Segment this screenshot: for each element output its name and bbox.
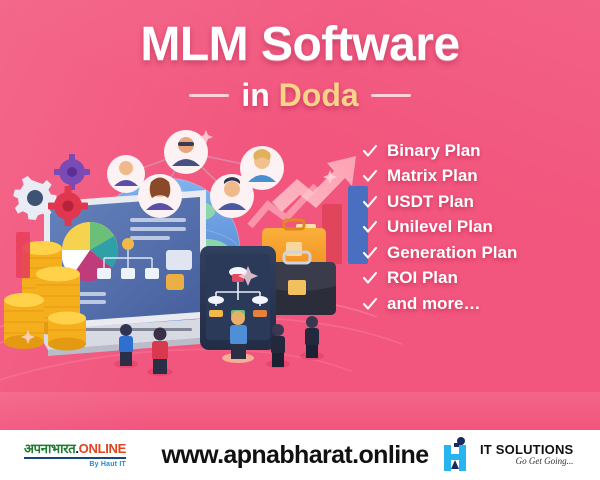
feature-label: Binary Plan xyxy=(387,141,481,161)
dash-right-decoration xyxy=(371,94,411,97)
brand-online-text: ONLINE xyxy=(79,441,126,456)
growth-arrow-icon xyxy=(272,156,356,212)
check-icon xyxy=(362,143,378,159)
feature-label: and more… xyxy=(387,294,481,314)
feature-label: Matrix Plan xyxy=(387,166,478,186)
partner-name: IT SOLUTIONS xyxy=(480,443,573,457)
brand-tagline: By Haut IT xyxy=(24,461,126,468)
check-icon xyxy=(362,245,378,261)
feature-label: USDT Plan xyxy=(387,192,474,212)
partner-text-block: IT SOLUTIONS Go Get Going... xyxy=(480,443,573,466)
feature-item: USDT Plan xyxy=(362,189,517,215)
brand-logo-apnabharat[interactable]: अपनाभारत.ONLINE By Haut IT xyxy=(0,442,150,468)
promo-poster: MLM Software in Doda xyxy=(0,0,600,480)
it-solutions-mark-icon xyxy=(440,436,474,474)
network-avatar xyxy=(107,155,145,193)
check-icon xyxy=(362,270,378,286)
dash-left-decoration xyxy=(189,94,229,97)
headline-block: MLM Software in Doda xyxy=(0,18,600,114)
footer-bar: अपनाभारत.ONLINE By Haut IT www.apnabhara… xyxy=(0,430,600,480)
coin-stack xyxy=(48,312,86,351)
feature-item: ROI Plan xyxy=(362,266,517,292)
check-icon xyxy=(362,219,378,235)
check-icon xyxy=(362,194,378,210)
feature-label: Unilevel Plan xyxy=(387,217,493,237)
headline-title: MLM Software xyxy=(0,18,600,72)
feature-item: and more… xyxy=(362,291,517,317)
headline-subtitle: in Doda xyxy=(241,76,358,114)
network-avatar xyxy=(138,174,182,218)
gear-white-icon xyxy=(13,176,56,220)
gear-purple-icon xyxy=(54,154,90,190)
check-icon xyxy=(362,168,378,184)
headline-subtitle-row: in Doda xyxy=(0,76,600,114)
feature-item: Binary Plan xyxy=(362,138,517,164)
feature-label: ROI Plan xyxy=(387,268,458,288)
feature-item: Generation Plan xyxy=(362,240,517,266)
website-url[interactable]: www.apnabharat.online xyxy=(161,441,428,469)
brand-underline xyxy=(24,457,126,459)
coin-stack xyxy=(4,293,44,349)
feature-list: Binary Plan Matrix Plan USDT Plan Unilev… xyxy=(362,138,517,317)
brand-hindi-text: अपनाभारत xyxy=(24,441,75,456)
person-figure xyxy=(300,316,324,360)
website-url-block[interactable]: www.apnabharat.online xyxy=(150,441,440,470)
feature-item: Matrix Plan xyxy=(362,164,517,190)
accent-bar xyxy=(16,232,30,278)
partner-tagline: Go Get Going... xyxy=(480,457,573,466)
check-icon xyxy=(362,296,378,312)
feature-label: Generation Plan xyxy=(387,243,517,263)
partner-logo-it-solutions[interactable]: IT SOLUTIONS Go Get Going... xyxy=(440,436,600,474)
network-avatar xyxy=(210,174,254,218)
headline-location: Doda xyxy=(279,77,359,113)
feature-item: Unilevel Plan xyxy=(362,215,517,241)
headline-sub-prefix: in xyxy=(241,77,269,113)
